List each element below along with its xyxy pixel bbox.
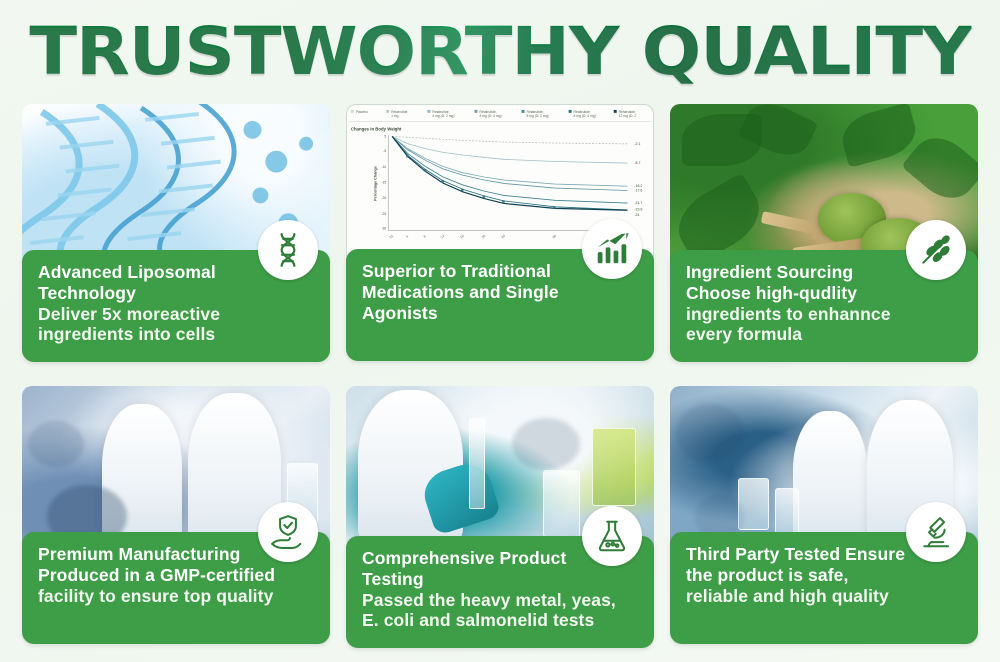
svg-text:01: 01 [389, 234, 395, 240]
feature-card-third-party-tested[interactable]: Third Party Tested Ensure the product is… [670, 386, 978, 656]
svg-text:4 mg (D: 4 mg): 4 mg (D: 4 mg) [479, 114, 501, 118]
card-body-line2: E. coli and salmonelid tests [362, 610, 640, 631]
svg-text:12: 12 [440, 234, 446, 240]
svg-text:1 mg: 1 mg [391, 114, 399, 118]
card-body-line1: Passed the heavy metal, yeas, [362, 590, 640, 611]
hand-shield-check-icon [258, 502, 318, 562]
card-headline-line2: Testing [362, 569, 640, 590]
card-body-line1: ingredients to enhannce [686, 304, 964, 325]
equipment-blur [28, 421, 83, 467]
microscope-icon [906, 502, 966, 562]
feature-card-comprehensive-product-testing[interactable]: Comprehensive Product Testing Passed the… [346, 386, 654, 656]
card-body-line1: reliable and high quality [686, 586, 964, 607]
dna-icon [258, 220, 318, 280]
feature-card-grid: Advanced Liposomal Technology Deliver 5x… [22, 104, 978, 656]
card-caption-panel: Ingredient Sourcing Choose high-qudlity … [670, 250, 978, 362]
svg-text:-25: -25 [381, 212, 386, 216]
title-banner: TRUSTWORTHY QUALITY [0, 0, 1000, 96]
feature-card-advanced-liposomal-technology[interactable]: Advanced Liposomal Technology Deliver 5x… [22, 104, 330, 374]
card-headline-line2: Choose high-qudlity [686, 283, 964, 304]
card-headline-line2: Technology [38, 283, 316, 304]
feature-card-superior-to-traditional-medications[interactable]: Placebo Retatrutide,1 mg Retatrutide,4 m… [346, 104, 654, 374]
svg-text:4: 4 [405, 234, 409, 238]
card-caption-panel: Third Party Tested Ensure the product is… [670, 532, 978, 644]
leaf-branch-icon [906, 220, 966, 280]
svg-text:12 mg (D: 2: 12 mg (D: 2 [619, 114, 637, 118]
card-caption-panel: Premium Manufacturing Produced in a GMP-… [22, 532, 330, 644]
svg-text:Percentage Change: Percentage Change [373, 166, 377, 201]
lab-glassware [775, 488, 800, 534]
equipment-blur [676, 404, 744, 464]
svg-text:16: 16 [459, 234, 465, 240]
page-title: TRUSTWORTHY QUALITY [29, 19, 971, 85]
chart-end-label: -2.1 [634, 142, 640, 146]
flask-with-green-liquid [592, 428, 635, 505]
card-caption-panel: Superior to Traditional Medications and … [346, 249, 654, 361]
feature-card-premium-manufacturing[interactable]: Premium Manufacturing Produced in a GMP-… [22, 386, 330, 656]
svg-text:24: 24 [501, 234, 507, 240]
card-headline-line2: the product is safe, [686, 565, 964, 586]
svg-text:20: 20 [481, 234, 487, 240]
svg-text:-20: -20 [381, 196, 386, 200]
card-body-line1: Agonists [362, 303, 640, 324]
flask-icon [582, 506, 642, 566]
card-body-line2: every formula [686, 324, 964, 345]
technician-figure [793, 411, 867, 541]
feature-card-ingredient-sourcing[interactable]: Ingredient Sourcing Choose high-qudlity … [670, 104, 978, 374]
card-headline-line2: Produced in a GMP-certified [38, 565, 316, 586]
svg-text:-10: -10 [381, 165, 386, 169]
svg-text:4 mg (D: 2 mg): 4 mg (D: 2 mg) [432, 114, 454, 118]
bar-chart-growth-icon [582, 219, 642, 279]
svg-text:-17.6: -17.6 [634, 189, 642, 193]
svg-text:-8.7: -8.7 [634, 161, 640, 165]
svg-text:-23.9: -23.9 [634, 208, 642, 212]
card-body-line2: ingredients into cells [38, 324, 316, 345]
svg-text:36: 36 [552, 234, 558, 240]
card-caption-panel: Comprehensive Product Testing Passed the… [346, 536, 654, 648]
svg-text:-16.2: -16.2 [634, 184, 642, 188]
lab-glassware [543, 470, 580, 537]
card-body-line1: Deliver 5x moreactive [38, 304, 316, 325]
card-body-line1: facility to ensure top quality [38, 586, 316, 607]
svg-text:8 mg (D: 2 mg): 8 mg (D: 2 mg) [526, 114, 548, 118]
card-headline-line2: Medications and Single [362, 282, 640, 303]
card-caption-panel: Advanced Liposomal Technology Deliver 5x… [22, 250, 330, 362]
svg-text:-5: -5 [383, 149, 386, 153]
microscope-silhouette [512, 418, 580, 471]
svg-text:Changes in Body Weight: Changes in Body Weight [351, 126, 402, 131]
svg-text:5: 5 [384, 134, 386, 138]
svg-text:8 mg (D: 4 mg): 8 mg (D: 4 mg) [574, 114, 596, 118]
svg-text:-21.7: -21.7 [634, 201, 642, 205]
svg-text:8: 8 [423, 234, 427, 238]
pipette [469, 418, 484, 510]
svg-text:-24: -24 [634, 213, 639, 217]
svg-text:-15: -15 [381, 180, 386, 184]
svg-text:Placebo: Placebo [356, 110, 368, 114]
svg-text:-30: -30 [381, 227, 386, 231]
